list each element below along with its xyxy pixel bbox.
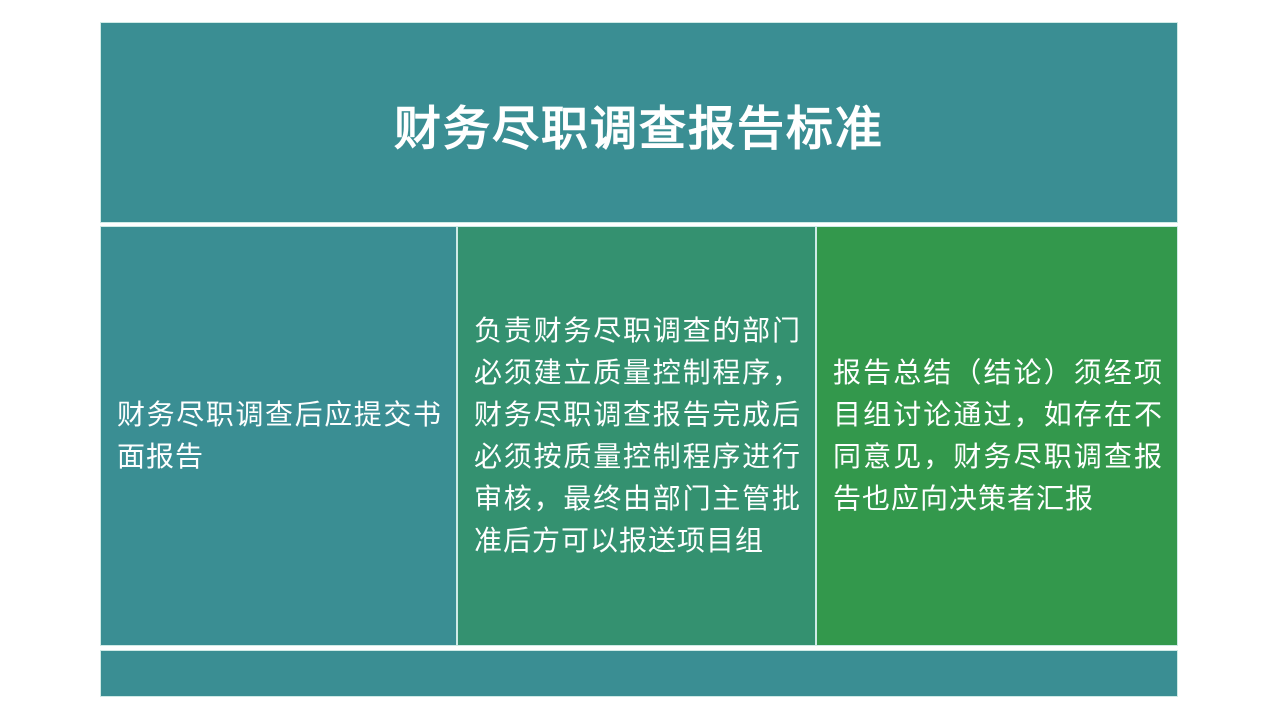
table-cell-column-3[interactable]: 报告总结（结论）须经项目组讨论通过，如存在不同意见，财务尽职调查报告也应向决策者…	[816, 226, 1178, 646]
page-title: 财务尽职调查报告标准	[394, 101, 884, 157]
table-cell-text-column-3: 报告总结（结论）须经项目组讨论通过，如存在不同意见，财务尽职调查报告也应向决策者…	[833, 352, 1163, 520]
content-table: 财务尽职调查报告标准 财务尽职调查后应提交书面报告 负责财务尽职调查的部门必须建…	[100, 22, 1178, 697]
table-header-row: 财务尽职调查报告标准	[100, 22, 1178, 223]
table-cell-text-column-1: 财务尽职调查后应提交书面报告	[117, 394, 442, 478]
slide-canvas: 财务尽职调查报告标准 财务尽职调查后应提交书面报告 负责财务尽职调查的部门必须建…	[0, 0, 1280, 720]
table-cell-column-2[interactable]: 负责财务尽职调查的部门必须建立质量控制程序，财务尽职调查报告完成后必须按质量控制…	[457, 226, 816, 646]
table-body-row: 财务尽职调查后应提交书面报告 负责财务尽职调查的部门必须建立质量控制程序，财务尽…	[100, 226, 1178, 646]
table-footer-strip	[100, 650, 1178, 697]
table-cell-text-column-2: 负责财务尽职调查的部门必须建立质量控制程序，财务尽职调查报告完成后必须按质量控制…	[474, 310, 801, 562]
table-cell-column-1[interactable]: 财务尽职调查后应提交书面报告	[100, 226, 457, 646]
